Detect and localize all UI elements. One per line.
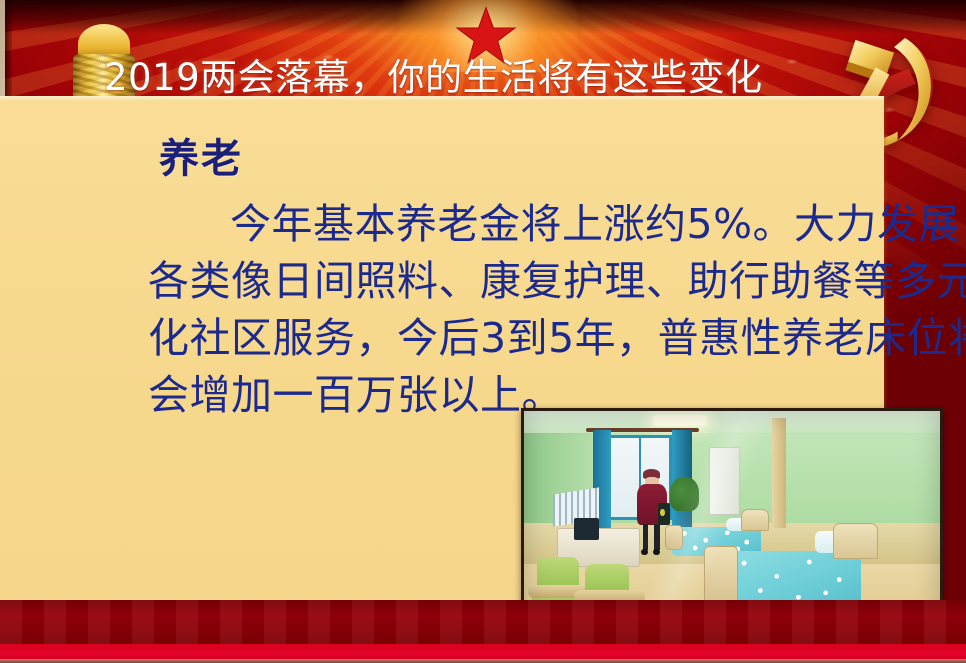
photo-column xyxy=(772,418,787,527)
photo-ceiling-lamp xyxy=(653,415,707,426)
photo-person-leg xyxy=(654,524,660,550)
photo-elderly-person xyxy=(634,469,669,556)
photo-person-shoe xyxy=(653,549,661,555)
photo-white-cabinet xyxy=(709,447,740,515)
photo-person-leg xyxy=(643,524,649,550)
body-line: 各类像日间照料、康复护理、助行助餐等多元 xyxy=(148,253,908,310)
bottom-dark-red-band xyxy=(0,600,966,644)
photo-bag-logo xyxy=(660,509,664,516)
photo-bed-headboard xyxy=(833,523,878,559)
photo-monitor xyxy=(574,518,599,540)
body-line: 今年基本养老金将上涨约5%。大力发展 xyxy=(148,196,908,253)
section-heading: 养老 xyxy=(159,126,243,184)
body-text-block: 今年基本养老金将上涨约5%。大力发展 各类像日间照料、康复护理、助行助餐等多元 … xyxy=(148,196,908,424)
presentation-slide: 2019两会落幕，你的生活将有这些变化 养老 今年基本养老金将上涨约5%。大力发… xyxy=(0,0,966,663)
slide-title: 2019两会落幕，你的生活将有这些变化 xyxy=(104,47,763,101)
bottom-hairline xyxy=(0,659,966,663)
body-line: 化社区服务，今后3到5年，普惠性养老床位将 xyxy=(148,310,908,367)
photo-person-shoe xyxy=(641,549,649,555)
photo-potted-plant xyxy=(670,477,699,511)
